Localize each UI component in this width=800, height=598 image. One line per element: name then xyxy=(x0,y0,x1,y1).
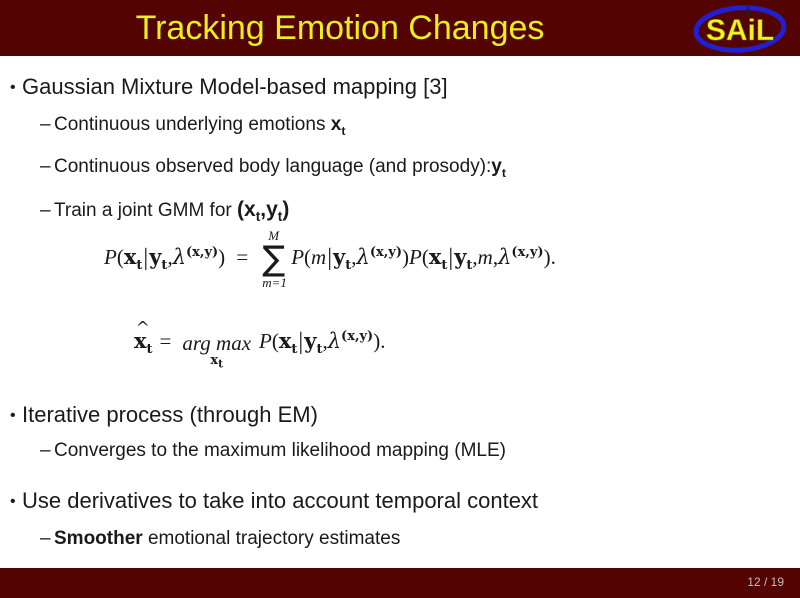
eq2-pipe: | xyxy=(298,328,303,356)
gmm-posterior-equation: P(xt|yt,λ(x,y)) =M∑m=1P(m|yt,λ(x,y))P(xt… xyxy=(104,244,556,274)
logo-text: SAiL xyxy=(706,14,774,47)
list-item-label: Continuous underlying emotions xyxy=(54,114,331,135)
eq1-sum-lower: m=1 xyxy=(262,275,285,291)
eq1-sum-upper: M xyxy=(262,228,285,244)
bullet-marker-icon: • xyxy=(10,493,22,511)
eq1-period: . xyxy=(551,245,556,269)
eq1-y-t2: yt xyxy=(333,244,351,269)
dash-marker-icon: – xyxy=(40,528,54,550)
sail-logo: SAiL xyxy=(690,3,790,53)
eq2-p: P xyxy=(259,329,272,353)
hat-accent-icon: ^ xyxy=(134,317,152,337)
list-item: •Use derivatives to take into account te… xyxy=(10,488,538,514)
footer-bar: 12 / 19 xyxy=(0,568,800,598)
list-item-label: Iterative process (through EM) xyxy=(22,402,318,427)
logo-mast-icon xyxy=(747,6,748,16)
list-item-label: Train a joint GMM for xyxy=(54,200,237,221)
eq1-y-t: yt xyxy=(149,244,167,269)
eq1-close2: ) xyxy=(402,245,409,269)
eq1-close3: ) xyxy=(544,245,551,269)
eq2-y-t: yt xyxy=(304,328,322,353)
argmax-estimate-equation: ^xt=arg maxxtP(xt|yt,λ(x,y)). xyxy=(134,328,385,357)
eq1-m2: m xyxy=(478,245,493,269)
list-item: •Gaussian Mixture Model-based mapping [3… xyxy=(10,74,448,100)
eq1-open2: ( xyxy=(304,245,311,269)
eq2-x-t: xt xyxy=(279,328,298,353)
eq1-y-t3: yt xyxy=(454,244,472,269)
eq1-pipe3: | xyxy=(448,244,453,272)
eq1-summation: M∑m=1 xyxy=(262,244,285,274)
list-item-label: Continuous observed body language (and p… xyxy=(54,156,491,177)
dash-marker-icon: – xyxy=(40,114,54,136)
eq1-lambda: λ(x,y) xyxy=(173,245,218,269)
bullet-marker-icon: • xyxy=(10,407,22,425)
list-item-label: emotional trajectory estimates xyxy=(143,528,401,549)
eq2-argmax-label: arg max xyxy=(182,332,251,354)
sigma-icon: ∑ xyxy=(262,244,285,274)
math-variable: yt xyxy=(491,156,506,177)
eq2-argmax-sub: xt xyxy=(182,353,251,371)
eq2-open: ( xyxy=(272,329,279,353)
eq1-p: P xyxy=(104,245,117,269)
page-title: Tracking Emotion Changes xyxy=(0,2,680,54)
list-item: –Converges to the maximum likelihood map… xyxy=(40,440,506,462)
list-item-emphasis: Smoother xyxy=(54,528,143,549)
eq1-lambda3: λ(x,y) xyxy=(498,245,543,269)
eq1-pipe: | xyxy=(143,244,148,272)
bullet-marker-icon: • xyxy=(10,79,22,97)
slide-canvas: Tracking Emotion Changes SAiL •Gaussian … xyxy=(0,0,800,598)
eq1-x-t3: xt xyxy=(429,244,448,269)
dash-marker-icon: – xyxy=(40,156,54,178)
list-item-label: Use derivatives to take into account tem… xyxy=(22,488,538,513)
math-variable: xt xyxy=(331,114,346,135)
eq1-p3: P xyxy=(409,245,422,269)
eq2-xhat-t: ^xt xyxy=(134,328,153,357)
eq1-open: ( xyxy=(117,245,124,269)
eq1-equals: = xyxy=(236,245,248,269)
eq1-p2: P xyxy=(291,245,304,269)
list-item: –Train a joint GMM for (xt,yt) xyxy=(40,198,289,224)
eq2-argmax: arg maxxt xyxy=(182,332,251,354)
dash-marker-icon: – xyxy=(40,200,54,222)
list-item: –Smoother emotional trajectory estimates xyxy=(40,528,400,550)
slide-body: •Gaussian Mixture Model-based mapping [3… xyxy=(0,56,800,568)
list-item: •Iterative process (through EM) xyxy=(10,402,318,428)
list-item: –Continuous underlying emotions xt xyxy=(40,114,345,138)
list-item-label: Converges to the maximum likelihood mapp… xyxy=(54,440,506,461)
eq1-m: m xyxy=(311,245,326,269)
list-item: –Continuous observed body language (and … xyxy=(40,156,506,180)
eq1-open3: ( xyxy=(422,245,429,269)
list-item-label: Gaussian Mixture Model-based mapping [3] xyxy=(22,74,448,99)
math-tuple: (xt,yt) xyxy=(237,198,289,221)
slide-number: 12 / 19 xyxy=(747,575,784,589)
sail-logo-graphic: SAiL xyxy=(690,3,790,53)
eq1-x-t: xt xyxy=(124,244,143,269)
eq1-close: ) xyxy=(218,245,225,269)
dash-marker-icon: – xyxy=(40,440,54,462)
eq1-pipe2: | xyxy=(327,244,332,272)
eq2-lambda: λ(x,y) xyxy=(328,329,373,353)
eq1-lambda2: λ(x,y) xyxy=(357,245,402,269)
eq2-period: . xyxy=(380,329,385,353)
eq2-equals: = xyxy=(160,329,172,353)
